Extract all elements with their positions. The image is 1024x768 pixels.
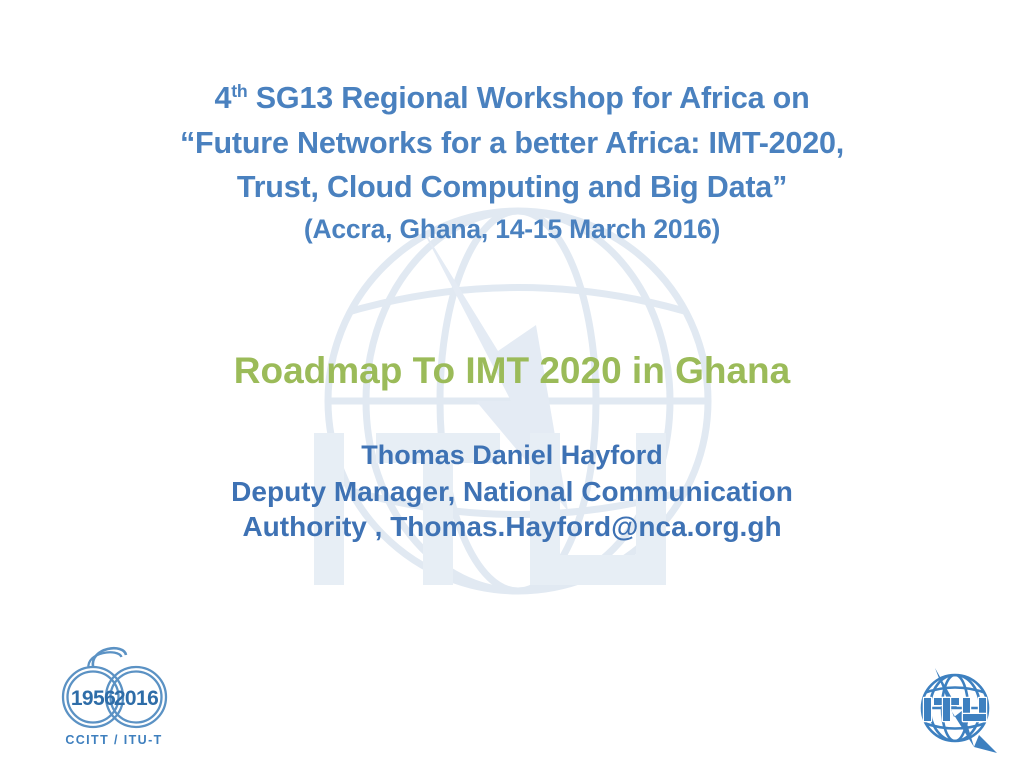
event-dateline: (Accra, Ghana, 14-15 March 2016) xyxy=(62,210,962,248)
anniversary-year-from: 1956 xyxy=(71,687,115,710)
event-header-line-3: Trust, Cloud Computing and Big Data” xyxy=(62,165,962,210)
event-ordinal-suffix: th xyxy=(231,81,247,101)
event-header-line-2: “Future Networks for a better Africa: IM… xyxy=(62,121,962,166)
event-ordinal-number: 4 xyxy=(214,81,231,115)
slide-canvas: 4th SG13 Regional Workshop for Africa on… xyxy=(0,0,1024,768)
event-header-line-1-rest: SG13 Regional Workshop for Africa on xyxy=(248,81,810,115)
anniversary-year-to: 2016 xyxy=(114,687,158,710)
event-header-line-1: 4th SG13 Regional Workshop for Africa on xyxy=(62,76,962,121)
author-role: Deputy Manager, National Communication xyxy=(62,474,962,510)
page-title: Roadmap To IMT 2020 in Ghana xyxy=(62,348,962,394)
author-affiliation-email: Authority , Thomas.Hayford@nca.org.gh xyxy=(62,509,962,545)
ccitt-60-years-logo: 1956 2016 CCITT / ITU-T xyxy=(44,645,184,751)
itu-globe-logo xyxy=(905,660,1005,756)
author-block: Thomas Daniel Hayford Deputy Manager, Na… xyxy=(62,438,962,545)
author-name: Thomas Daniel Hayford xyxy=(62,438,962,474)
event-header: 4th SG13 Regional Workshop for Africa on… xyxy=(62,76,962,248)
anniversary-caption: CCITT / ITU-T xyxy=(65,733,162,747)
